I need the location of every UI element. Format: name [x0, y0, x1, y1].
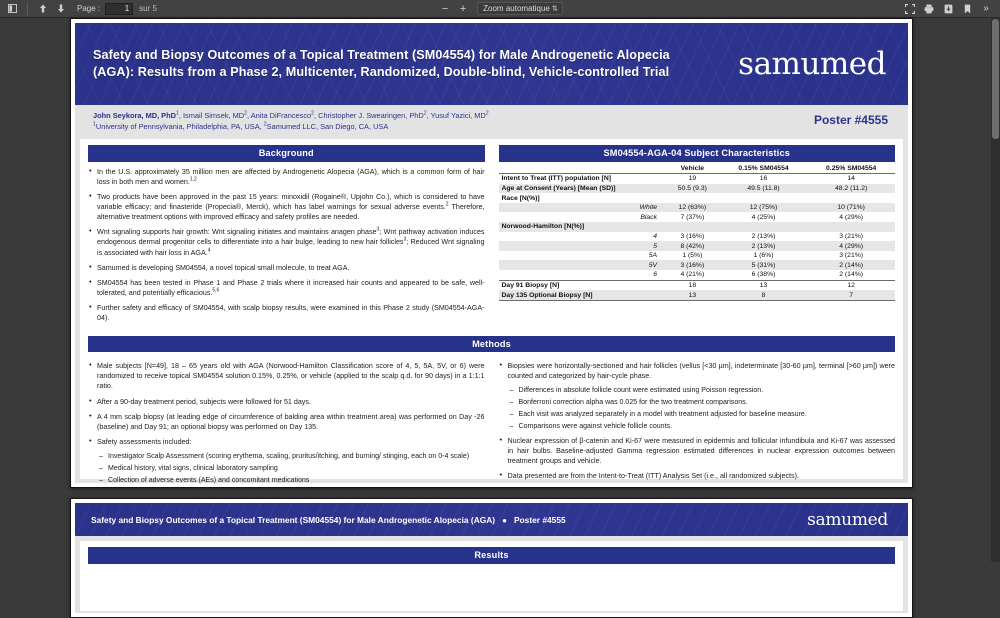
list-item: Samumed is developing SM04554, a novel t… — [88, 263, 485, 273]
table-cell: 12 — [807, 280, 895, 290]
column-header: 0.15% SM04554 — [720, 164, 808, 174]
samumed-logo-page2: samumed — [807, 510, 888, 530]
zoom-controls: − + Zoom automatique ⇅ — [437, 1, 563, 16]
table-cell: 7 — [807, 290, 895, 300]
table-cell: 16 — [720, 174, 808, 184]
authors-strip: John Seykora, MD, PhD1, Ismail Simsek, M… — [75, 105, 908, 139]
affiliation-list: 1University of Pennsylvania, Philadelphi… — [93, 121, 890, 132]
column-header: 0.25% SM04554 — [807, 164, 895, 174]
table-cell: 3 (21%) — [807, 232, 895, 242]
list-item: Safety assessments included: — [88, 437, 485, 447]
list-item: SM04554 has been tested in Phase 1 and P… — [88, 278, 485, 298]
list-item: Differences in absolute follicle count w… — [510, 386, 896, 396]
tools-chevron-icon[interactable]: » — [978, 1, 994, 16]
row-sublabel: 6 — [499, 270, 666, 280]
row-sublabel: 5A — [499, 251, 666, 261]
toolbar-left-group: Page : sur 5 — [4, 1, 157, 16]
table-row: Intent to Treat (ITT) population [N]1916… — [499, 174, 896, 184]
table-header-row: Vehicle0.15% SM045540.25% SM04554 — [499, 164, 896, 174]
zoom-level-value: Zoom automatique — [483, 4, 550, 13]
table-row: Day 91 Biopsy [N]181312 — [499, 280, 896, 290]
pdf-toolbar: Page : sur 5 − + Zoom automatique ⇅ » — [0, 0, 1000, 18]
table-row: Age at Consent (Years) [Mean (SD)]50.5 (… — [499, 184, 896, 194]
vertical-scrollbar[interactable] — [991, 18, 1000, 562]
table-cell: 4 (29%) — [807, 241, 895, 251]
print-icon[interactable] — [921, 1, 937, 16]
table-cell: 8 (42%) — [665, 241, 720, 251]
poster-number: Poster #4555 — [814, 113, 888, 127]
list-item: Further safety and efficacy of SM04554, … — [88, 303, 485, 323]
zoom-level-select[interactable]: Zoom automatique ⇅ — [477, 2, 563, 15]
methods-left-sub-list: Investigator Scalp Assessment (scoring e… — [99, 452, 485, 486]
table-cell: 14 — [807, 174, 895, 184]
list-item: In the U.S. approximately 35 million men… — [88, 167, 485, 187]
table-row: Race [N(%)] — [499, 193, 896, 203]
toolbar-right-group: » — [902, 1, 996, 16]
methods-right-bullet-list: Biopsies were horizontally-sectioned and… — [499, 361, 896, 381]
list-item: Collection of adverse events (AEs) and c… — [99, 476, 485, 486]
list-item: Nuclear expression of β-catenin and Ki-6… — [499, 436, 896, 466]
zoom-out-button[interactable]: − — [437, 1, 453, 16]
zoom-in-button[interactable]: + — [455, 1, 471, 16]
table-row: White12 (63%)12 (75%)10 (71%) — [499, 203, 896, 213]
table-row: 64 (21%)6 (38%)2 (14%) — [499, 270, 896, 280]
row-label: Age at Consent (Years) [Mean (SD)] — [499, 184, 666, 194]
list-item: Investigator Scalp Assessment (scoring e… — [99, 452, 485, 462]
poster-body: Background In the U.S. approximately 35 … — [80, 139, 903, 479]
list-item: Bonferroni correction alpha was 0.025 fo… — [510, 398, 896, 408]
samumed-logo-text: samumed — [738, 46, 886, 82]
results-section-heading: Results — [88, 547, 895, 564]
page-count-label: sur 5 — [139, 4, 157, 13]
presentation-mode-icon[interactable] — [902, 1, 918, 16]
table-row: Day 135 Optional Biopsy [N]1387 — [499, 290, 896, 300]
pdf-page-1: Safety and Biopsy Outcomes of a Topical … — [70, 18, 913, 488]
poster-header-band: Safety and Biopsy Outcomes of a Topical … — [75, 23, 908, 105]
methods-right-tail-list: Nuclear expression of β-catenin and Ki-6… — [499, 436, 896, 482]
row-label: Norwood-Hamilton [N(%)] — [499, 222, 666, 232]
row-sublabel: 4 — [499, 232, 666, 242]
list-item: Data presented are from the Intent-to-Tr… — [499, 471, 896, 481]
top-columns: Background In the U.S. approximately 35 … — [88, 145, 895, 329]
author-list: John Seykora, MD, PhD1, Ismail Simsek, M… — [93, 110, 890, 121]
affil-marker-1: 1 — [176, 111, 179, 117]
methods-right-column: Biopsies were horizontally-sectioned and… — [499, 356, 896, 488]
table-cell: 6 (38%) — [720, 270, 808, 280]
poster-running-header: Safety and Biopsy Outcomes of a Topical … — [75, 503, 908, 536]
table-row: Black7 (37%)4 (25%)4 (29%) — [499, 212, 896, 222]
table-cell — [665, 193, 720, 203]
table-cell: 48.2 (11.2) — [807, 184, 895, 194]
table-cell: 2 (14%) — [807, 260, 895, 270]
table-body: Intent to Treat (ITT) population [N]1916… — [499, 174, 896, 301]
table-cell: 3 (16%) — [665, 232, 720, 242]
table-cell: 3 (21%) — [807, 251, 895, 261]
table-cell: 5 (31%) — [720, 260, 808, 270]
table-cell — [720, 222, 808, 232]
table-row: 43 (16%)2 (13%)3 (21%) — [499, 232, 896, 242]
table-cell: 1 (6%) — [720, 251, 808, 261]
poster-canvas: Safety and Biopsy Outcomes of a Topical … — [75, 23, 908, 483]
row-sublabel: Black — [499, 212, 666, 222]
table-cell: 3 (16%) — [665, 260, 720, 270]
running-poster-number: Poster #4555 — [514, 515, 566, 525]
samumed-logo: samumed — [738, 46, 886, 82]
page-number-input[interactable] — [105, 3, 133, 15]
table-cell: 10 (71%) — [807, 203, 895, 213]
row-label: Day 91 Biopsy [N] — [499, 280, 666, 290]
list-item: Male subjects [N=49], 18 – 65 years old … — [88, 361, 485, 391]
table-cell: 2 (13%) — [720, 241, 808, 251]
list-item: After a 90-day treatment period, subject… — [88, 397, 485, 407]
table-row: Norwood-Hamilton [N(%)] — [499, 222, 896, 232]
subject-characteristics-table: Vehicle0.15% SM045540.25% SM04554 Intent… — [499, 164, 896, 301]
methods-right-sub-list: Differences in absolute follicle count w… — [510, 386, 896, 431]
page-title: Safety and Biopsy Outcomes of a Topical … — [75, 47, 675, 80]
running-title-text: Safety and Biopsy Outcomes of a Topical … — [91, 515, 495, 525]
running-separator: ● — [502, 516, 507, 525]
scrollbar-thumb[interactable] — [992, 19, 999, 139]
table-head: Vehicle0.15% SM045540.25% SM04554 — [499, 164, 896, 174]
table-row: 5V3 (16%)5 (31%)2 (14%) — [499, 260, 896, 270]
table-cell: 1 (5%) — [665, 251, 720, 261]
list-item: Two products have been approved in the p… — [88, 192, 485, 222]
table-cell: 49.5 (11.8) — [720, 184, 808, 194]
table-cell: 18 — [665, 280, 720, 290]
list-item: Biopsies were horizontally-sectioned and… — [499, 361, 896, 381]
table-cell — [720, 193, 808, 203]
table-row: 5A1 (5%)1 (6%)3 (21%) — [499, 251, 896, 261]
background-column: Background In the U.S. approximately 35 … — [88, 145, 485, 329]
page-up-icon[interactable] — [35, 1, 51, 16]
sidebar-toggle-icon[interactable] — [4, 1, 20, 16]
methods-section-heading: Methods — [88, 336, 895, 353]
methods-left-column: Male subjects [N=49], 18 – 65 years old … — [88, 356, 485, 488]
table-cell: 4 (29%) — [807, 212, 895, 222]
page-down-icon[interactable] — [53, 1, 69, 16]
row-label: Intent to Treat (ITT) population [N] — [499, 174, 666, 184]
page-number-label: Page : — [77, 4, 100, 13]
table-cell — [807, 193, 895, 203]
table-cell — [665, 222, 720, 232]
list-item: Medical history, vital signs, clinical l… — [99, 464, 485, 474]
list-item: Each visit was analyzed separately in a … — [510, 410, 896, 420]
bookmark-icon[interactable] — [959, 1, 975, 16]
column-header — [499, 164, 666, 174]
row-label: Day 135 Optional Biopsy [N] — [499, 290, 666, 300]
table-cell — [807, 222, 895, 232]
row-label: Race [N(%)] — [499, 193, 666, 203]
row-sublabel: 5V — [499, 260, 666, 270]
list-item: Comparisons were against vehicle follicl… — [510, 422, 896, 432]
list-item: Wnt signaling supports hair growth: Wnt … — [88, 227, 485, 257]
table-cell: 13 — [665, 290, 720, 300]
table-row: 58 (42%)2 (13%)4 (29%) — [499, 241, 896, 251]
first-author: John Seykora, MD, PhD — [93, 111, 176, 120]
table-cell: 50.5 (9.3) — [665, 184, 720, 194]
list-item: A 4 mm scalp biopsy (at leading edge of … — [88, 412, 485, 432]
row-sublabel: 5 — [499, 241, 666, 251]
table-cell: 7 (37%) — [665, 212, 720, 222]
download-icon[interactable] — [940, 1, 956, 16]
table-cell: 13 — [720, 280, 808, 290]
methods-section: Methods Male subjects [N=49], 18 – 65 ye… — [88, 336, 895, 488]
running-title: Safety and Biopsy Outcomes of a Topical … — [75, 515, 566, 525]
toolbar-divider — [27, 3, 28, 15]
poster-canvas-page2: Safety and Biopsy Outcomes of a Topical … — [75, 503, 908, 613]
pdf-viewer-scroll-area[interactable]: Safety and Biopsy Outcomes of a Topical … — [0, 18, 1000, 562]
background-bullet-list: In the U.S. approximately 35 million men… — [88, 167, 485, 324]
pdf-page-2: Safety and Biopsy Outcomes of a Topical … — [70, 498, 913, 618]
results-body: Results — [80, 541, 903, 611]
table-cell: 4 (25%) — [720, 212, 808, 222]
table-cell: 2 (14%) — [807, 270, 895, 280]
table-cell: 19 — [665, 174, 720, 184]
column-header: Vehicle — [665, 164, 720, 174]
chevron-updown-icon: ⇅ — [552, 5, 558, 12]
methods-columns: Male subjects [N=49], 18 – 65 years old … — [88, 356, 895, 488]
table-cell: 8 — [720, 290, 808, 300]
table-cell: 12 (63%) — [665, 203, 720, 213]
background-section-heading: Background — [88, 145, 485, 162]
table-cell: 4 (21%) — [665, 270, 720, 280]
table-cell: 2 (13%) — [720, 232, 808, 242]
characteristics-section-heading: SM04554-AGA-04 Subject Characteristics — [499, 145, 896, 162]
table-cell: 12 (75%) — [720, 203, 808, 213]
methods-left-bullet-list: Male subjects [N=49], 18 – 65 years old … — [88, 361, 485, 447]
row-sublabel: White — [499, 203, 666, 213]
characteristics-column: SM04554-AGA-04 Subject Characteristics V… — [499, 145, 896, 329]
